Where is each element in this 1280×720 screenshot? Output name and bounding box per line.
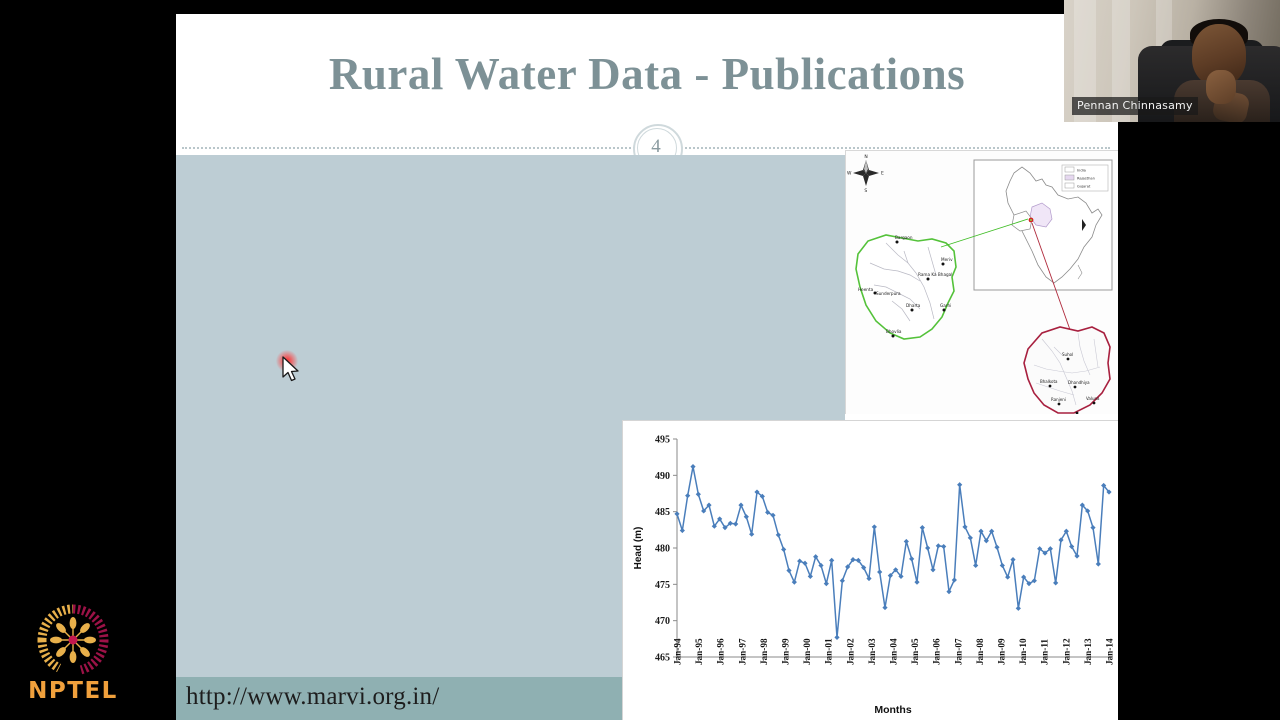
svg-text:E: E (881, 171, 884, 177)
video-frame: Rural Water Data - Publications 4 http:/… (0, 0, 1280, 720)
speaker-name-label: Pennan Chinnasamy (1072, 97, 1198, 115)
y-tick-label: 475 (655, 580, 670, 591)
x-tick-label: Jan-10 (1018, 638, 1028, 665)
y-tick-label: 480 (655, 544, 670, 555)
svg-text:India: India (1077, 169, 1086, 173)
x-tick-label: Jan-13 (1083, 638, 1093, 665)
x-tick-label: Jan-08 (975, 638, 985, 665)
study-area-map: N S E W (845, 150, 1118, 423)
svg-text:Heenta: Heenta (858, 287, 874, 292)
y-tick-label: 490 (655, 471, 670, 482)
x-tick-label: Jan-03 (867, 638, 877, 665)
svg-text:Meriv: Meriv (941, 257, 953, 262)
svg-text:Rama Ka Bhagal: Rama Ka Bhagal (918, 272, 952, 277)
x-tick-label: Jan-99 (781, 638, 791, 665)
x-tick-label: Jan-96 (716, 638, 726, 665)
svg-text:Sunderpura: Sunderpura (876, 291, 901, 296)
x-tick-label: Jan-95 (694, 638, 704, 665)
slide-header: Rural Water Data - Publications (176, 14, 1118, 137)
y-tick-label: 465 (655, 653, 670, 664)
y-tick-label: 485 (655, 507, 670, 518)
svg-text:Gujarat: Gujarat (1077, 185, 1091, 189)
x-tick-label: Jan-11 (1040, 639, 1050, 665)
page-title: Rural Water Data - Publications (176, 48, 1118, 100)
y-tick-label: 495 (655, 435, 670, 446)
nptel-wheel-icon (18, 600, 128, 678)
svg-text:Bhovlia: Bhovlia (886, 329, 902, 334)
svg-text:Ranjeni: Ranjeni (1051, 397, 1066, 402)
chart-graphic: 465470475480485490495Head (m)Jan-94Jan-9… (623, 421, 1118, 720)
x-tick-label: Jan-00 (802, 638, 812, 665)
nptel-logo-text: NPTEL (18, 678, 128, 704)
svg-text:Garhi: Garhi (940, 303, 951, 308)
y-tick-label: 470 (655, 616, 670, 627)
svg-text:Suhol: Suhol (1062, 352, 1073, 357)
x-tick-label: Jan-94 (673, 638, 683, 665)
x-tick-label: Jan-14 (1105, 638, 1115, 665)
nptel-logo: NPTEL (18, 600, 128, 708)
presentation-slide: Rural Water Data - Publications 4 http:/… (176, 14, 1118, 720)
svg-text:Rajasthan: Rajasthan (1077, 177, 1095, 181)
x-tick-label: Jan-02 (845, 638, 855, 665)
groundwater-head-chart: 465470475480485490495Head (m)Jan-94Jan-9… (622, 420, 1118, 720)
svg-text:Valuna: Valuna (1086, 396, 1100, 401)
svg-text:S: S (864, 188, 867, 194)
x-tick-label: Jan-06 (932, 638, 942, 665)
x-tick-label: Jan-98 (759, 638, 769, 665)
mouse-cursor (282, 356, 300, 382)
webcam-overlay: Pennan Chinnasamy (1064, 0, 1280, 122)
india-inset: India Rajasthan Gujarat (974, 160, 1112, 290)
source-url-text[interactable]: http://www.marvi.org.in/ (186, 683, 439, 711)
x-tick-label: Jan-97 (737, 638, 747, 665)
map-graphic: N S E W (846, 151, 1118, 422)
svg-text:N: N (864, 154, 867, 160)
svg-text:Dhandhiya: Dhandhiya (1068, 380, 1090, 385)
svg-text:W: W (847, 171, 852, 177)
x-axis-title: Months (874, 704, 911, 716)
x-tick-label: Jan-12 (1061, 638, 1071, 665)
speaker-hand (1206, 70, 1236, 104)
svg-text:Bargaon: Bargaon (895, 235, 913, 240)
x-tick-label: Jan-07 (953, 638, 963, 665)
x-tick-label: Jan-04 (889, 638, 899, 665)
svg-text:Dharta: Dharta (906, 303, 921, 308)
y-axis-title: Head (m) (633, 527, 644, 570)
inset-legend: India Rajasthan Gujarat (1062, 165, 1108, 191)
svg-text:Bhalkota: Bhalkota (1040, 379, 1058, 384)
x-tick-label: Jan-09 (997, 638, 1007, 665)
x-tick-label: Jan-01 (824, 638, 834, 665)
x-tick-label: Jan-05 (910, 638, 920, 665)
